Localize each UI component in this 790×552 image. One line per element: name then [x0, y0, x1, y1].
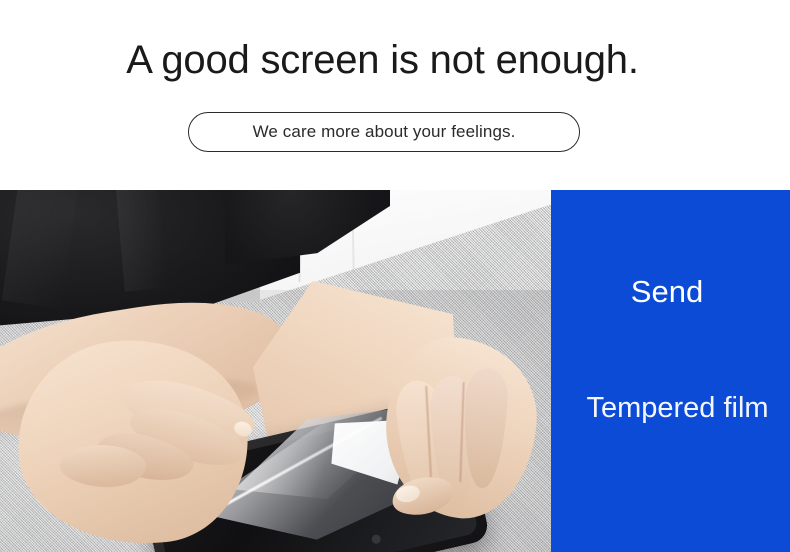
subtitle-text: We care more about your feelings.	[253, 122, 516, 142]
brand-label: Send	[627, 272, 707, 312]
page-title: A good screen is not enough.	[0, 36, 765, 84]
header-section: A good screen is not enough. We care mor…	[0, 0, 790, 190]
subtitle-pill: We care more about your feelings.	[188, 112, 580, 152]
product-name: Tempered film	[551, 390, 790, 426]
product-photo	[0, 190, 551, 552]
blue-info-panel: Send Tempered film Protection from the f…	[551, 190, 790, 552]
promo-banner: A good screen is not enough. We care mor…	[0, 0, 790, 552]
shirt-fold-secondary	[115, 190, 166, 292]
shirt-fold	[2, 190, 78, 309]
